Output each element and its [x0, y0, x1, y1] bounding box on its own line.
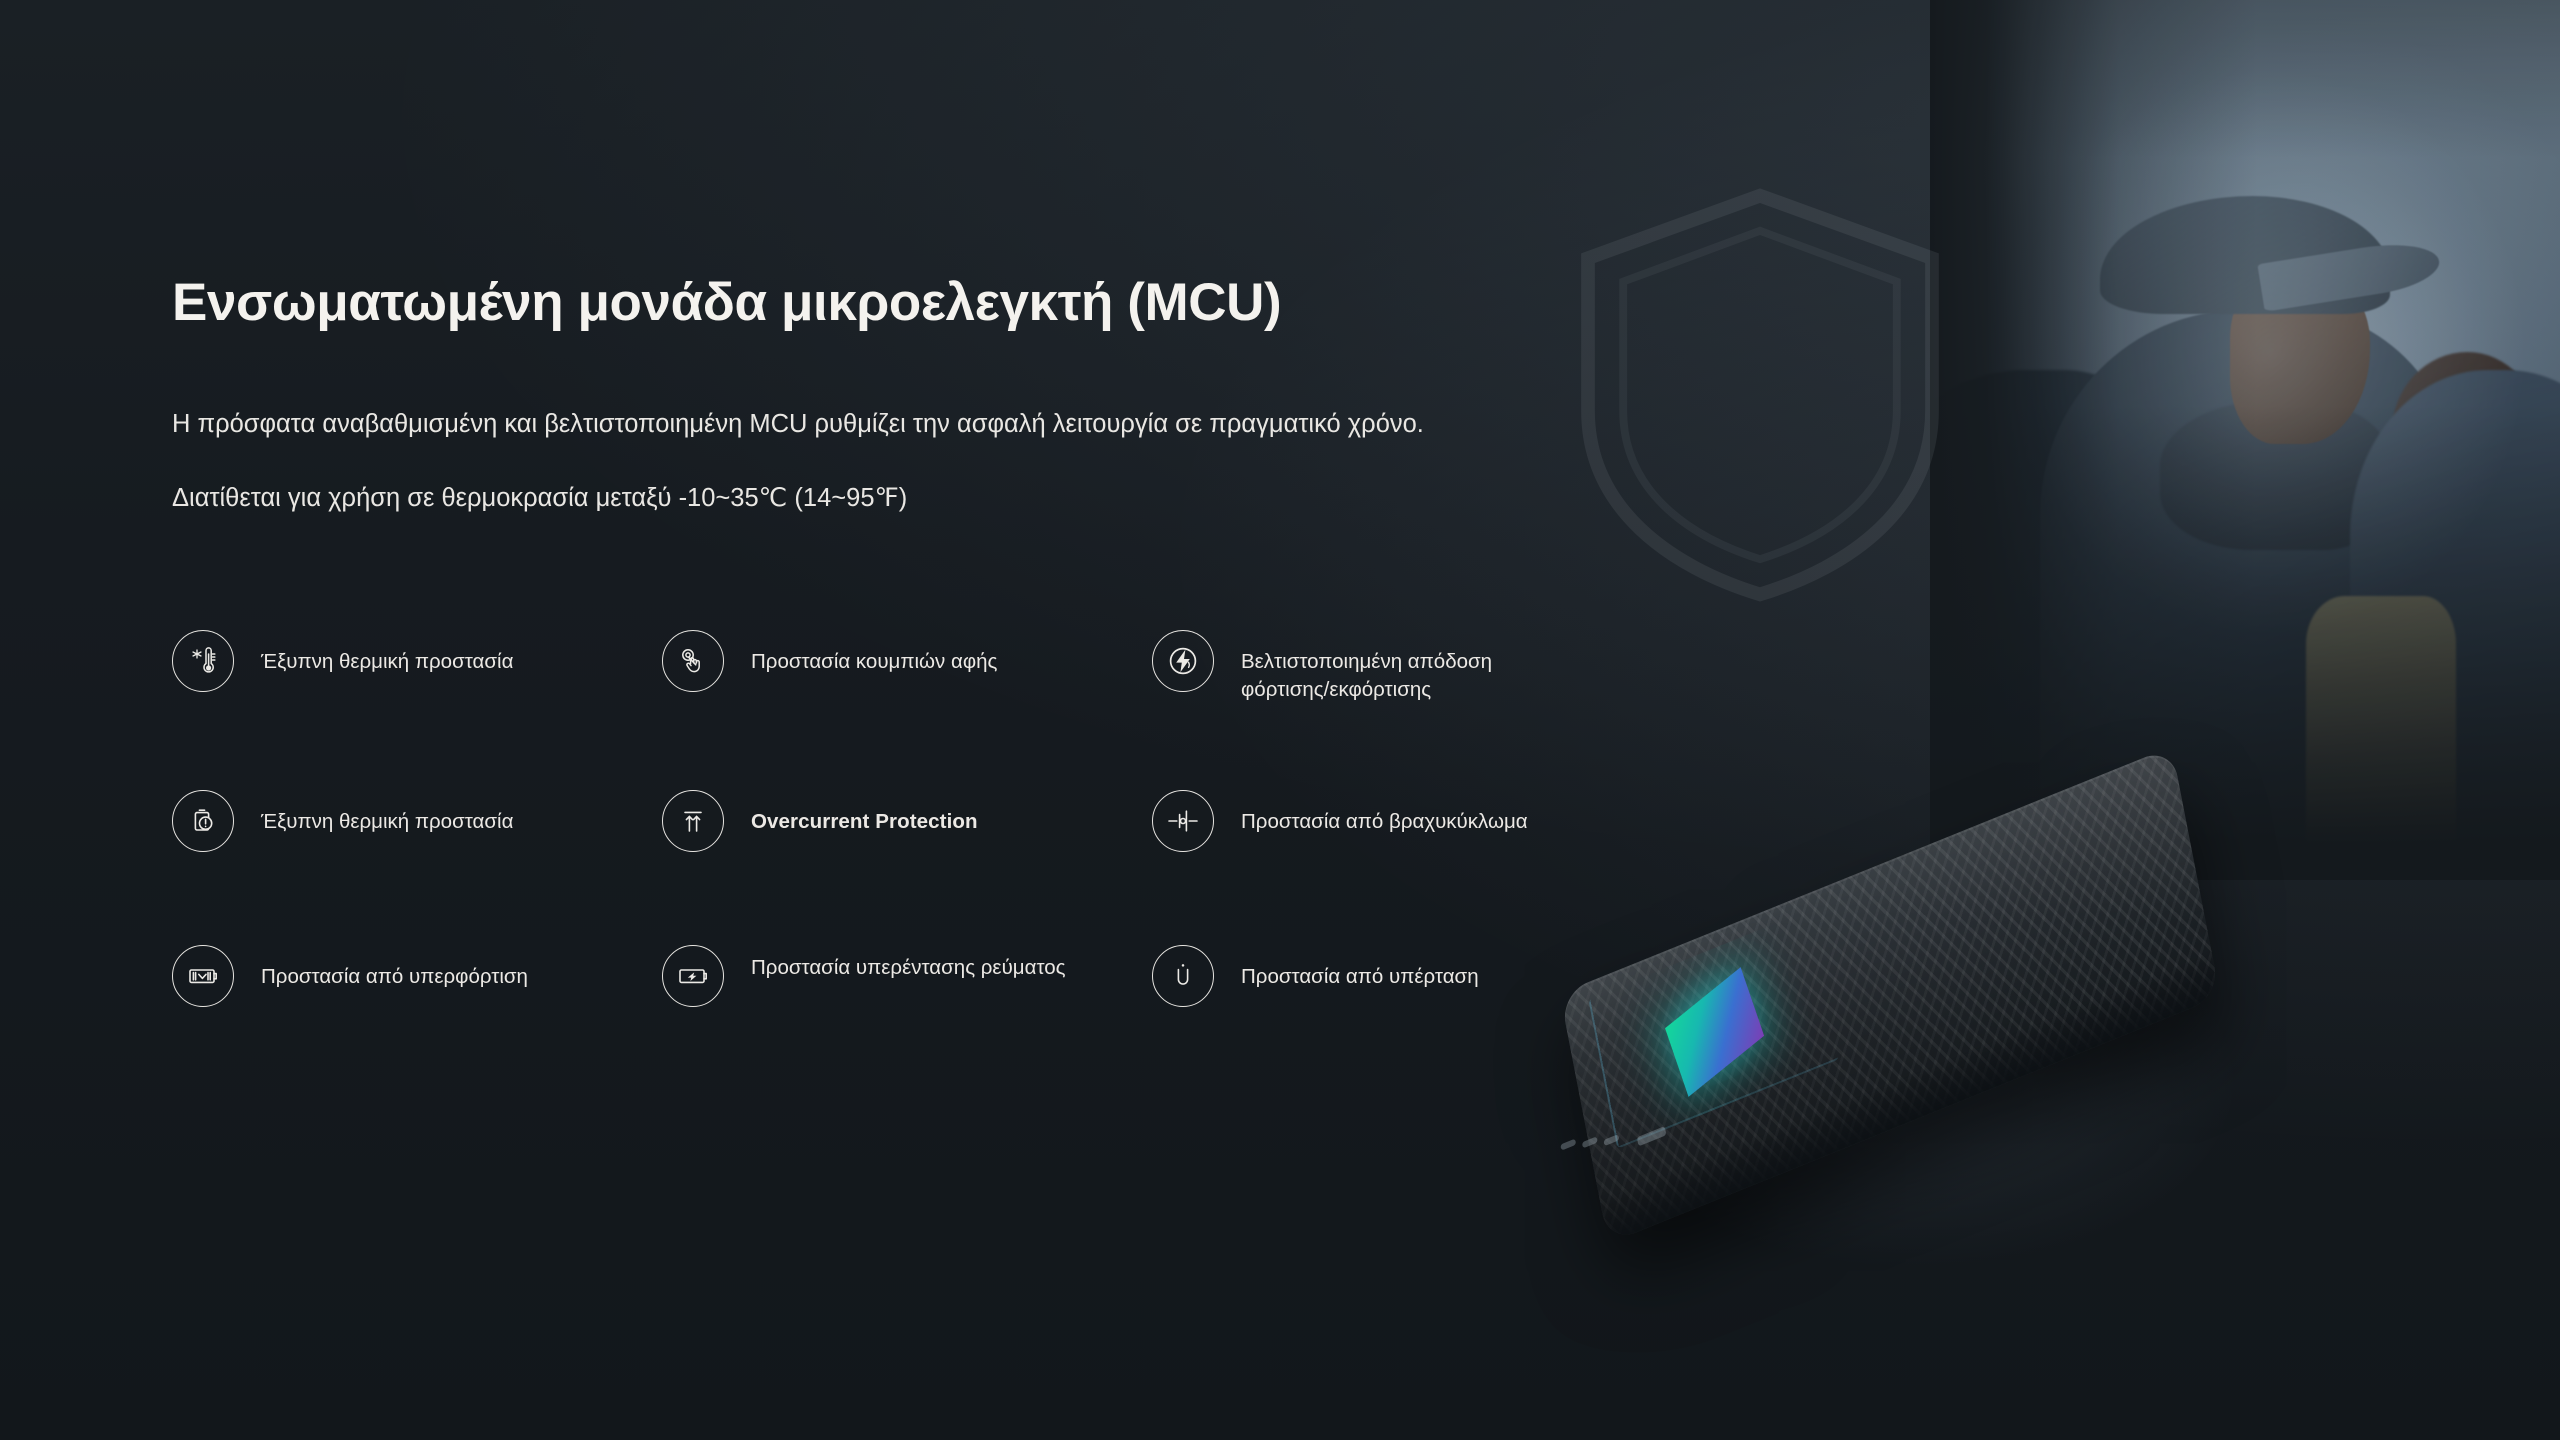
- subtitle-line-1: Η πρόσφατα αναβαθμισμένη και βελτιστοποι…: [172, 410, 1424, 439]
- feature-item-overcurrent-battery: Προστασία υπερέντασης ρεύματος: [662, 949, 1152, 1109]
- shield-icon: [1560, 180, 1960, 610]
- feature-label: Βελτιστοποιημένη απόδοση φόρτισης/εκφόρτ…: [1241, 634, 1532, 705]
- feature-grid: Έξυπνη θερμική προστασία Προστασία κουμπ…: [172, 634, 1532, 1109]
- overvoltage-icon: [1152, 945, 1214, 1007]
- feature-item-smart-thermal-protection: Έξυπνη θερμική προστασία: [172, 634, 662, 794]
- page-title: Ενσωματωμένη μονάδα μικροελεγκτή (MCU): [172, 272, 1281, 333]
- thermometer-snowflake-icon: [172, 630, 234, 692]
- feature-item-overcurrent-protection: Overcurrent Protection: [662, 794, 1152, 949]
- feature-label: Έξυπνη θερμική προστασία: [261, 794, 513, 836]
- feature-item-short-circuit-protection: Προστασία από βραχυκύκλωμα: [1152, 794, 1532, 949]
- feature-label: Έξυπνη θερμική προστασία: [261, 634, 513, 676]
- hikers-photo: [1930, 0, 2560, 880]
- feature-item-overcharge-protection: Προστασία από υπερφόρτιση: [172, 949, 662, 1109]
- battery-bolt-icon: [662, 945, 724, 1007]
- photo-fade-mask: [1930, 0, 2560, 880]
- battery-alert-icon: [172, 790, 234, 852]
- feature-label: Προστασία από βραχυκύκλωμα: [1241, 794, 1528, 836]
- feature-label: Προστασία υπερέντασης ρεύματος: [751, 949, 1066, 982]
- touch-button-icon: [662, 630, 724, 692]
- feature-item-overvoltage-protection: Προστασία από υπέρταση: [1152, 949, 1532, 1109]
- up-arrows-icon: [662, 790, 724, 852]
- short-circuit-icon: [1152, 790, 1214, 852]
- subtitle-line-2: Διατίθεται για χρήση σε θερμοκρασία μετα…: [172, 483, 907, 513]
- power-bank-product: [1520, 830, 2280, 1310]
- feature-item-touch-button-protection: Προστασία κουμπιών αφής: [662, 634, 1152, 794]
- feature-label: Προστασία κουμπιών αφής: [751, 634, 997, 676]
- usb-port: [1637, 1126, 1667, 1146]
- port-led-2: [1582, 1136, 1598, 1148]
- feature-item-optimized-charging: Βελτιστοποιημένη απόδοση φόρτισης/εκφόρτ…: [1152, 634, 1532, 794]
- feature-label: Προστασία από υπερφόρτιση: [261, 949, 528, 991]
- feature-label: Προστασία από υπέρταση: [1241, 949, 1479, 991]
- port-led-1: [1560, 1139, 1576, 1151]
- feature-label: Overcurrent Protection: [751, 794, 978, 836]
- feature-item-battery-alert: Έξυπνη θερμική προστασία: [172, 794, 662, 949]
- port-led-3: [1603, 1134, 1619, 1146]
- lightning-bolt-icon: [1152, 630, 1214, 692]
- battery-overcharge-icon: [172, 945, 234, 1007]
